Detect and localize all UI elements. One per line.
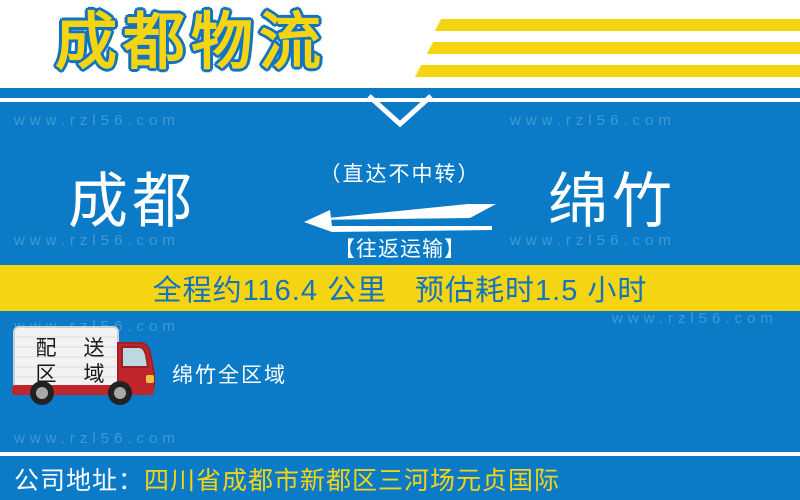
route-middle: （直达不中转） 【往返运输】 xyxy=(276,163,524,261)
bidirectional-arrow-icon xyxy=(300,196,500,234)
duration-text: 预估耗时1.5 小时 xyxy=(415,267,647,309)
main-panel: 成都 （直达不中转） 【往返运输】 绵竹 全程约116.4 公里 xyxy=(0,88,800,500)
delivery-row: 配 送 区 域 绵竹全区域 xyxy=(0,323,800,413)
logistics-poster: 成都物流 成都 （直达不中转） xyxy=(0,0,800,500)
decor-stripe-3 xyxy=(415,65,800,77)
page-title: 成都物流 xyxy=(55,4,327,82)
divider-bottom xyxy=(0,452,800,456)
address-value: 四川省成都市新都区三河场元贞国际 xyxy=(144,467,560,495)
distance-text: 全程约116.4 公里 xyxy=(153,267,387,309)
destination-city: 绵竹 xyxy=(548,169,676,235)
route-note: （直达不中转） xyxy=(276,163,524,186)
route-row: 成都 （直达不中转） 【往返运输】 绵竹 xyxy=(0,163,800,273)
route-tag: 【往返运输】 xyxy=(276,238,524,261)
stats-band: 全程约116.4 公里 预估耗时1.5 小时 xyxy=(0,265,800,311)
origin-city: 成都 xyxy=(68,169,196,235)
company-address: 公司地址：四川省成都市新都区三河场元贞国际 xyxy=(14,466,560,496)
decor-stripe-1 xyxy=(435,19,800,31)
delivery-truck-icon: 配 送 区 域 xyxy=(8,323,156,405)
delivery-area-text: 绵竹全区域 xyxy=(172,359,287,389)
chevron-down-icon xyxy=(367,94,433,128)
address-label: 公司地址： xyxy=(14,467,144,495)
decor-stripe-2 xyxy=(427,42,800,54)
poster-header: 成都物流 xyxy=(0,0,800,88)
